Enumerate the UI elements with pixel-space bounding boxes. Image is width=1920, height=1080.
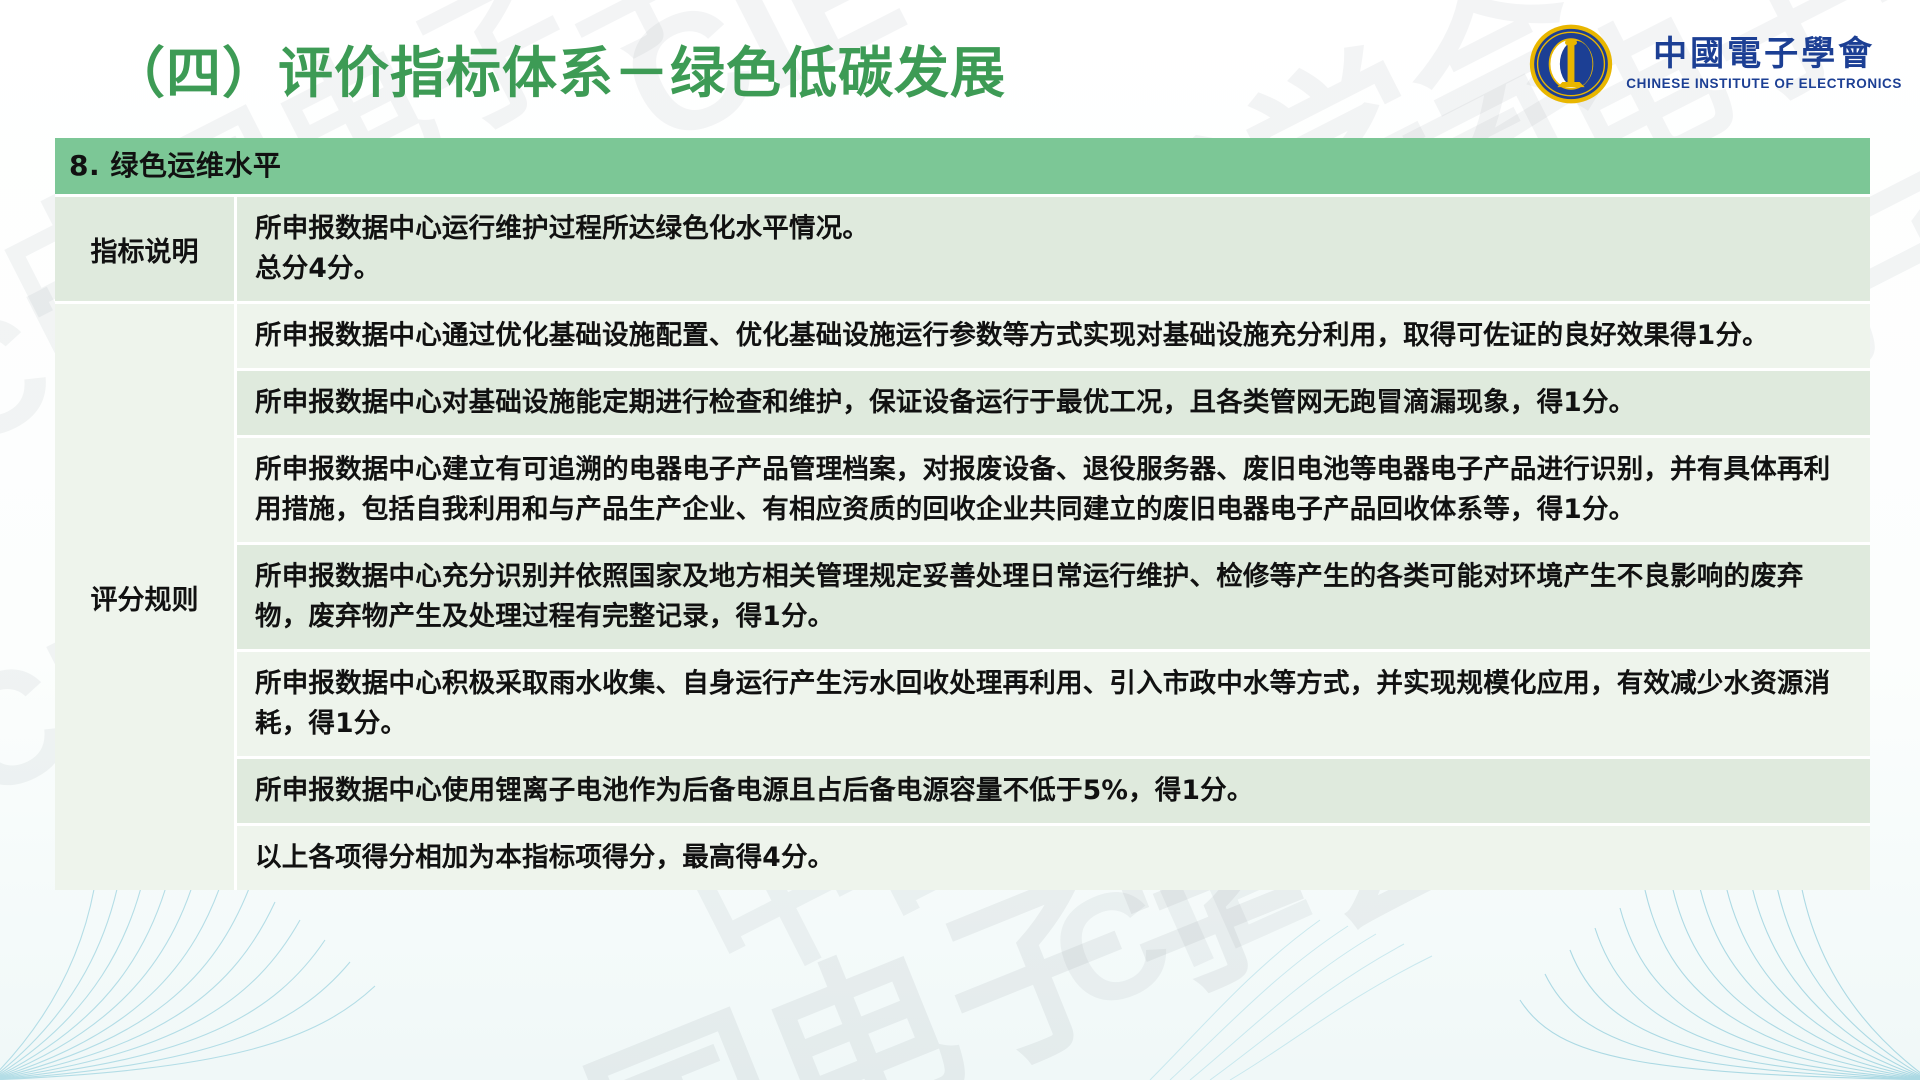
list-item: 以上各项得分相加为本指标项得分，最高得4分。 (237, 823, 1870, 890)
list-item: 所申报数据中心通过优化基础设施配置、优化基础设施运行参数等方式实现对基础设施充分… (237, 304, 1870, 368)
row-content-description: 所申报数据中心运行维护过程所达绿色化水平情况。 总分4分。 (237, 197, 1870, 301)
description-line: 所申报数据中心运行维护过程所达绿色化水平情况。 (255, 209, 1852, 249)
logo-name-en: CHINESE INSTITUTE OF ELECTRONICS (1626, 76, 1902, 91)
table-row: 指标说明 所申报数据中心运行维护过程所达绿色化水平情况。 总分4分。 (55, 194, 1870, 301)
description-line: 总分4分。 (255, 249, 1852, 289)
row-label-scoring-rules: 评分规则 (55, 304, 237, 890)
organization-logo: 中國電子學會 CHINESE INSTITUTE OF ELECTRONICS (1528, 22, 1902, 106)
indicator-table: 8. 绿色运维水平 指标说明 所申报数据中心运行维护过程所达绿色化水平情况。 总… (55, 138, 1870, 890)
table-body: 指标说明 所申报数据中心运行维护过程所达绿色化水平情况。 总分4分。 评分规则 … (55, 194, 1870, 890)
table-row: 评分规则 所申报数据中心通过优化基础设施配置、优化基础设施运行参数等方式实现对基… (55, 301, 1870, 890)
row-label-description: 指标说明 (55, 197, 237, 301)
slide-canvas: 中国电子学会 CIE 中国电子学会 CIE 中国电子学会 中国电子学会 CIE … (0, 0, 1920, 1080)
logo-name-cn: 中國電子學會 (1653, 37, 1875, 73)
cie-emblem-icon (1528, 22, 1614, 106)
scoring-rules-list: 所申报数据中心通过优化基础设施配置、优化基础设施运行参数等方式实现对基础设施充分… (237, 304, 1870, 890)
page-title: （四）评价指标体系－绿色低碳发展 (110, 28, 1006, 108)
list-item: 所申报数据中心使用锂离子电池作为后备电源且占后备电源容量不低于5%，得1分。 (237, 756, 1870, 823)
list-item: 所申报数据中心建立有可追溯的电器电子产品管理档案，对报废设备、退役服务器、废旧电… (237, 435, 1870, 542)
list-item: 所申报数据中心积极采取雨水收集、自身运行产生污水回收处理再利用、引入市政中水等方… (237, 649, 1870, 756)
list-item: 所申报数据中心充分识别并依照国家及地方相关管理规定妥善处理日常运行维护、检修等产… (237, 542, 1870, 649)
list-item: 所申报数据中心对基础设施能定期进行检查和维护，保证设备运行于最优工况，且各类管网… (237, 368, 1870, 435)
table-header-title: 8. 绿色运维水平 (55, 138, 1870, 194)
